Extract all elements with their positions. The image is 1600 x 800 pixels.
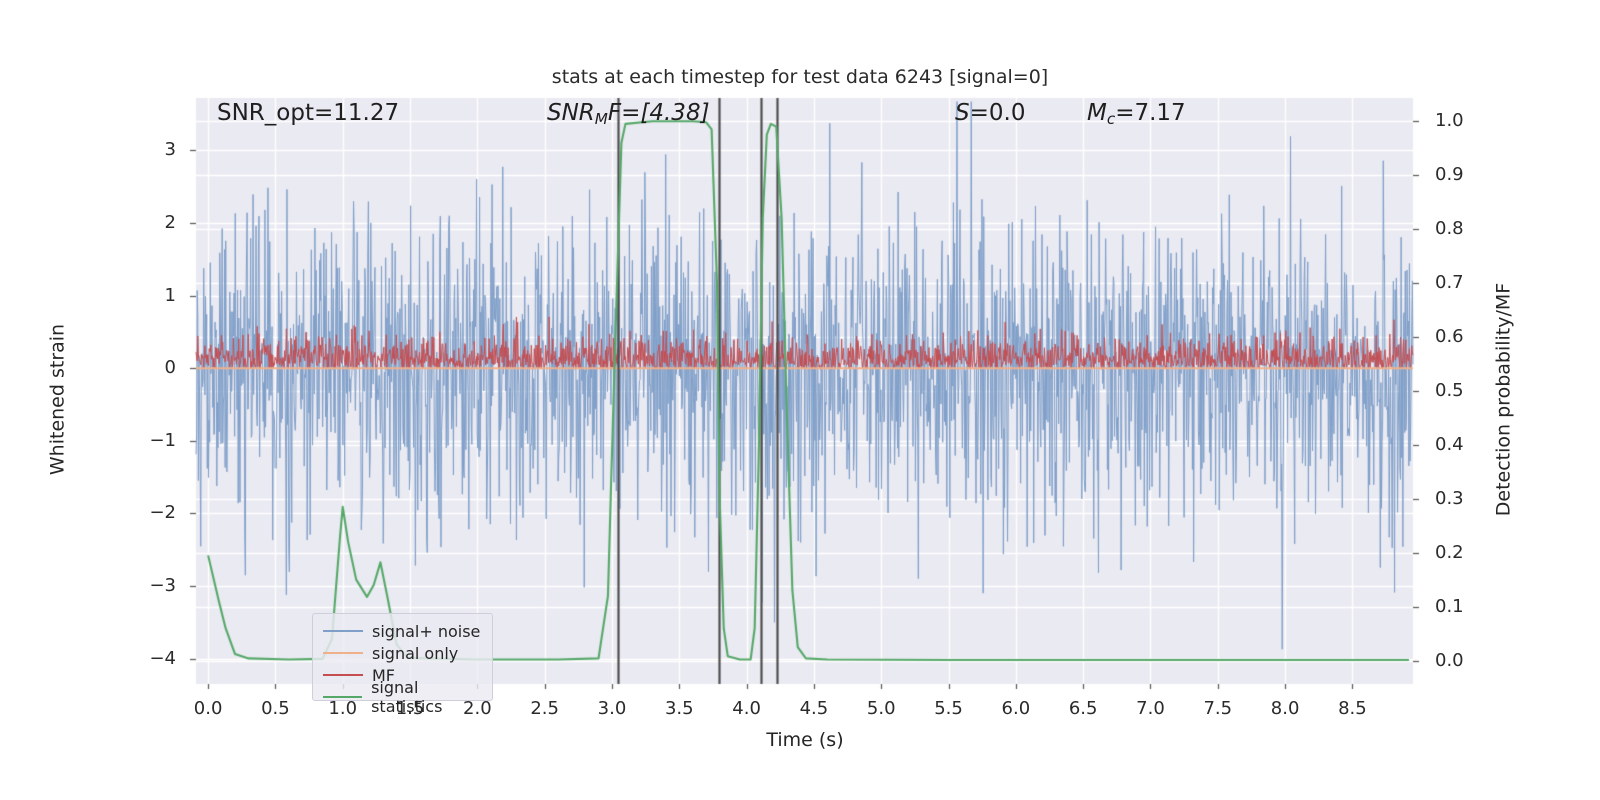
annotation-mc-subscript: c	[1107, 110, 1115, 128]
legend-item-label: signal+ noise	[372, 622, 480, 641]
annotation-snr-opt: SNR_opt=11.27	[217, 102, 399, 125]
y-tick-label-left: 1	[116, 287, 176, 305]
legend-color-swatch	[323, 674, 363, 676]
y-tick-label-left: −4	[116, 650, 176, 668]
x-tick-label: 7.0	[1120, 700, 1180, 718]
y-axis-label-right: Detection probability/MF	[1495, 270, 1514, 530]
legend-color-swatch	[323, 696, 362, 698]
chart-legend: signal+ noisesignal onlyMFsignal statist…	[312, 613, 493, 701]
y-tick-label-left: −2	[116, 504, 176, 522]
x-axis-label: Time (s)	[196, 731, 1414, 750]
x-tick-label: 3.0	[582, 700, 642, 718]
x-tick-label: 5.5	[919, 700, 979, 718]
y-tick-label-left: 0	[116, 359, 176, 377]
x-tick-label: 4.5	[784, 700, 844, 718]
y-tick-label-right: 1.0	[1435, 112, 1495, 130]
legend-item[interactable]: signal only	[313, 642, 492, 664]
x-tick-label: 0.0	[178, 700, 238, 718]
y-tick-label-right: 0.9	[1435, 166, 1495, 184]
page-title: stats at each timestep for test data 624…	[0, 68, 1600, 87]
legend-color-swatch	[323, 652, 363, 654]
legend-rows: signal+ noisesignal onlyMFsignal statist…	[313, 620, 492, 708]
annotation-s: S=0.0	[955, 102, 1025, 125]
annotation-s-rest: =0.0	[970, 100, 1026, 126]
y-axis-label-left: Whitened strain	[49, 290, 68, 510]
y-tick-label-right: 0.2	[1435, 544, 1495, 562]
x-tick-label: 4.0	[717, 700, 777, 718]
y-tick-label-left: 3	[116, 141, 176, 159]
x-tick-label: 2.5	[515, 700, 575, 718]
x-tick-label: 8.0	[1255, 700, 1315, 718]
annotation-snr-mf-rest: F=[4.38]	[608, 100, 710, 126]
y-tick-label-left: −1	[116, 432, 176, 450]
x-tick-label: 3.5	[649, 700, 709, 718]
annotation-snr-mf: SNRMF=[4.38]	[547, 102, 710, 127]
y-tick-label-right: 0.8	[1435, 220, 1495, 238]
y-tick-label-right: 0.5	[1435, 382, 1495, 400]
legend-item-label: signal only	[372, 644, 458, 663]
legend-item[interactable]: signal statistics	[313, 686, 492, 708]
annotation-snr-mf-subscript: M	[595, 110, 608, 128]
y-tick-label-right: 0.6	[1435, 328, 1495, 346]
annotation-mc-prefix: M	[1087, 100, 1107, 126]
y-tick-label-right: 0.4	[1435, 436, 1495, 454]
legend-item[interactable]: signal+ noise	[313, 620, 492, 642]
figure-container: stats at each timestep for test data 624…	[0, 0, 1600, 800]
annotation-mc-rest: =7.17	[1115, 100, 1185, 126]
y-tick-label-right: 0.7	[1435, 274, 1495, 292]
x-tick-label: 5.0	[851, 700, 911, 718]
y-tick-label-right: 0.0	[1435, 652, 1495, 670]
legend-item-label: signal statistics	[371, 678, 492, 716]
y-tick-label-right: 0.1	[1435, 598, 1495, 616]
x-tick-label: 8.5	[1322, 700, 1382, 718]
x-tick-label: 6.0	[986, 700, 1046, 718]
x-tick-label: 0.5	[245, 700, 305, 718]
legend-color-swatch	[323, 630, 363, 632]
y-tick-label-left: 2	[116, 214, 176, 232]
x-tick-label: 7.5	[1188, 700, 1248, 718]
annotation-s-prefix: S	[955, 100, 970, 126]
y-tick-label-right: 0.3	[1435, 490, 1495, 508]
annotation-mc: Mc=7.17	[1087, 102, 1186, 127]
annotation-snr-mf-prefix: SNR	[547, 100, 595, 126]
x-tick-label: 6.5	[1053, 700, 1113, 718]
y-tick-label-left: −3	[116, 577, 176, 595]
